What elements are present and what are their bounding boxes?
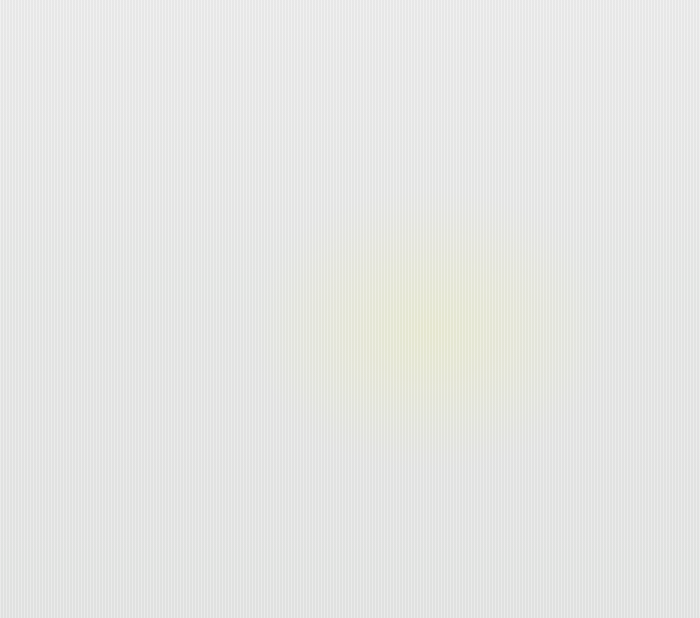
legend-label: Overall (649, 375, 685, 387)
x-tick-label: 12.5 (100, 505, 152, 517)
radio-button-icon[interactable] (14, 526, 23, 535)
legend-label: Within (649, 389, 681, 401)
y-tick-label: 8 (82, 368, 120, 380)
option-row[interactable]: The process is not capable since it is n… (14, 581, 484, 592)
table-row: Cpk 0.915 (26, 167, 77, 178)
x-tick-label: 18.5 (322, 505, 374, 517)
within-stats-2: Within Cp 0.854 CPL 0.856 CPU 0.852 Cpk … (26, 361, 77, 418)
legend-1: Overall Within (612, 123, 685, 151)
overall-stats-table-2: Pp 0.877 PPL 0.879 PPU 0.875 Ppk 0.875 C… (620, 421, 672, 477)
x-tick-label: 16.5 (248, 505, 300, 517)
usl-label-2: USL (570, 346, 590, 357)
stat-value: 1.001 (54, 133, 77, 144)
table-row: Cp 1.001 (26, 133, 77, 144)
stat-key: Pp (620, 172, 649, 183)
stat-value: 0.875 (649, 444, 672, 455)
stat-value: 0.915 (54, 156, 77, 167)
table-row: CPL 0.856 (26, 384, 77, 395)
y-tick-label: 6 (82, 404, 120, 416)
stat-key: PPU (620, 444, 649, 455)
stat-key: Cpk (26, 407, 54, 418)
x-tick-label: 20.5 (396, 505, 448, 517)
x-tick-label: 14.5 (174, 278, 226, 290)
histogram-plot-1 (126, 123, 589, 276)
solid-line-icon (612, 130, 642, 131)
stat-key: PPU (620, 195, 649, 206)
dashed-line-icon (612, 144, 642, 145)
overall-stats-2: Overall Pp 0.877 PPL 0.879 PPU 0.875 Ppk… (620, 409, 672, 477)
y-tick-label: 2.5 (78, 239, 120, 251)
stat-key: CPU (26, 396, 54, 407)
panel-subtitle-2: Machine = 2 (0, 265, 700, 279)
option-row[interactable]: The process is not capable since it is n… (14, 562, 484, 573)
stat-value: 0.875 (649, 455, 672, 466)
table-row: Cp 0.854 (26, 373, 77, 384)
within-stats-header-2: Within (26, 361, 77, 372)
stat-key: PPL (620, 432, 649, 443)
overall-stats-1: Overall Pp 0.994 PPL 1.079 PPU 0.909 Ppk… (620, 160, 672, 228)
x-tick-label: 14.5 (174, 505, 226, 517)
option-label: The process is in control. (29, 524, 121, 535)
legend-2: Overall Within (612, 374, 685, 402)
table-row: Cpk 0.852 (26, 407, 77, 418)
curve-within (120, 123, 597, 275)
x-tick-label: 18.5 (322, 278, 374, 290)
stat-value: 0.909 (649, 195, 672, 206)
table-row: PPL 1.079 (620, 183, 672, 194)
stat-value: 0.877 (649, 421, 672, 432)
table-row: PPU 0.875 (620, 444, 672, 455)
option-row[interactable]: The process is in control. (14, 524, 484, 535)
stat-key: CPU (26, 156, 54, 167)
overall-stats-table-1: Pp 0.994 PPL 1.079 PPU 0.909 Ppk 0.909 C… (620, 172, 672, 228)
stat-key: Cpm (620, 466, 649, 477)
stat-value: 0.856 (54, 384, 77, 395)
table-row: PPL 0.879 (620, 432, 672, 443)
stat-key: CPL (26, 384, 54, 395)
radio-button-icon[interactable] (14, 583, 23, 592)
lsl-label-1: LSL (148, 105, 167, 116)
radio-button-icon[interactable] (14, 545, 23, 554)
within-stats-table-2: Cp 0.854 CPL 0.856 CPU 0.852 Cpk 0.852 (26, 373, 77, 418)
stat-key: Pp (620, 421, 649, 432)
spread-note: The actual process spread is represented… (38, 481, 359, 496)
table-row: Ppk 0.909 (620, 206, 672, 217)
option-label: The process is out of control. (29, 543, 136, 554)
table-row: CPU 0.915 (26, 156, 77, 167)
option-label: The process is not capable since it is n… (29, 581, 355, 592)
capability-report-page: Process Capability Report for Length by … (0, 0, 700, 618)
x-tick-label: 16.5 (248, 278, 300, 290)
y-tick-label: 10.0 (78, 119, 120, 131)
lsl-label-2: LSL (148, 346, 167, 357)
x-tick-label: 24.5 (540, 278, 592, 290)
legend-item-overall-1: Overall (612, 123, 685, 137)
legend-item-within-1: Within (612, 137, 685, 151)
within-stats-table-1: Cp 1.001 CPL 1.086 CPU 0.915 Cpk 0.915 (26, 133, 77, 178)
table-row: Pp 0.994 (620, 172, 672, 183)
x-tick-label: 22.5 (470, 505, 522, 517)
stat-value: 0.994 (649, 172, 672, 183)
x-tick-label: 22.5 (470, 278, 522, 290)
table-row: CPL 1.086 (26, 144, 77, 155)
y-tick-label: 2 (82, 463, 120, 475)
stat-key: PPL (620, 183, 649, 194)
y-tick-label: 5.0 (78, 199, 120, 211)
stat-value: 1.079 (649, 183, 672, 194)
stat-value: * (649, 466, 672, 477)
overall-stats-header-1: Overall (620, 160, 672, 171)
table-row: Ppk 0.875 (620, 455, 672, 466)
stat-value: 0.915 (54, 167, 77, 178)
x-tick-label: 20.5 (396, 278, 448, 290)
table-row: CPU 0.852 (26, 396, 77, 407)
stat-key: CPL (26, 144, 54, 155)
table-row: Cpm * (620, 466, 672, 477)
within-stats-1: Within Cp 1.001 CPL 1.086 CPU 0.915 Cpk … (26, 121, 77, 178)
panel-subtitle-1: Machine = 1 (0, 33, 700, 47)
dashed-line-icon (612, 395, 642, 396)
option-label: The process is not capable since it is n… (29, 562, 355, 573)
stat-key: Cpk (26, 167, 54, 178)
table-row: PPU 0.909 (620, 195, 672, 206)
x-tick-label: 12.5 (100, 278, 152, 290)
legend-item-overall-2: Overall (612, 374, 685, 388)
table-row: Pp 0.877 (620, 421, 672, 432)
stat-value: * (649, 217, 672, 228)
stat-key: Ppk (620, 206, 649, 217)
stat-key: Cp (26, 133, 54, 144)
stat-key: Cpm (620, 217, 649, 228)
answer-options: The process is in control. The process i… (14, 524, 484, 600)
legend-label: Within (649, 138, 681, 150)
radio-button-icon[interactable] (14, 564, 23, 573)
usl-label-1: USL (568, 105, 588, 116)
legend-item-within-2: Within (612, 388, 685, 402)
y-tick-label: 4 (82, 434, 120, 446)
stat-value: 0.852 (54, 396, 77, 407)
stat-key: Ppk (620, 455, 649, 466)
stat-value: 0.909 (649, 206, 672, 217)
option-row[interactable]: The process is out of control. (14, 543, 484, 554)
legend-label: Overall (649, 124, 685, 136)
overall-stats-header-2: Overall (620, 409, 672, 420)
table-row: Cpm * (620, 217, 672, 228)
y-tick-label: 7.5 (78, 159, 120, 171)
stat-value: 0.852 (54, 407, 77, 418)
page-title: Process Capability Report for Length by … (0, 0, 700, 30)
within-stats-header-1: Within (26, 121, 77, 132)
stat-value: 1.086 (54, 144, 77, 155)
stat-value: 0.854 (54, 373, 77, 384)
distribution-curves (127, 123, 629, 275)
solid-line-icon (612, 381, 642, 382)
stat-value: 0.879 (649, 432, 672, 443)
x-tick-label: 24.5 (540, 507, 592, 519)
stat-key: Cp (26, 373, 54, 384)
